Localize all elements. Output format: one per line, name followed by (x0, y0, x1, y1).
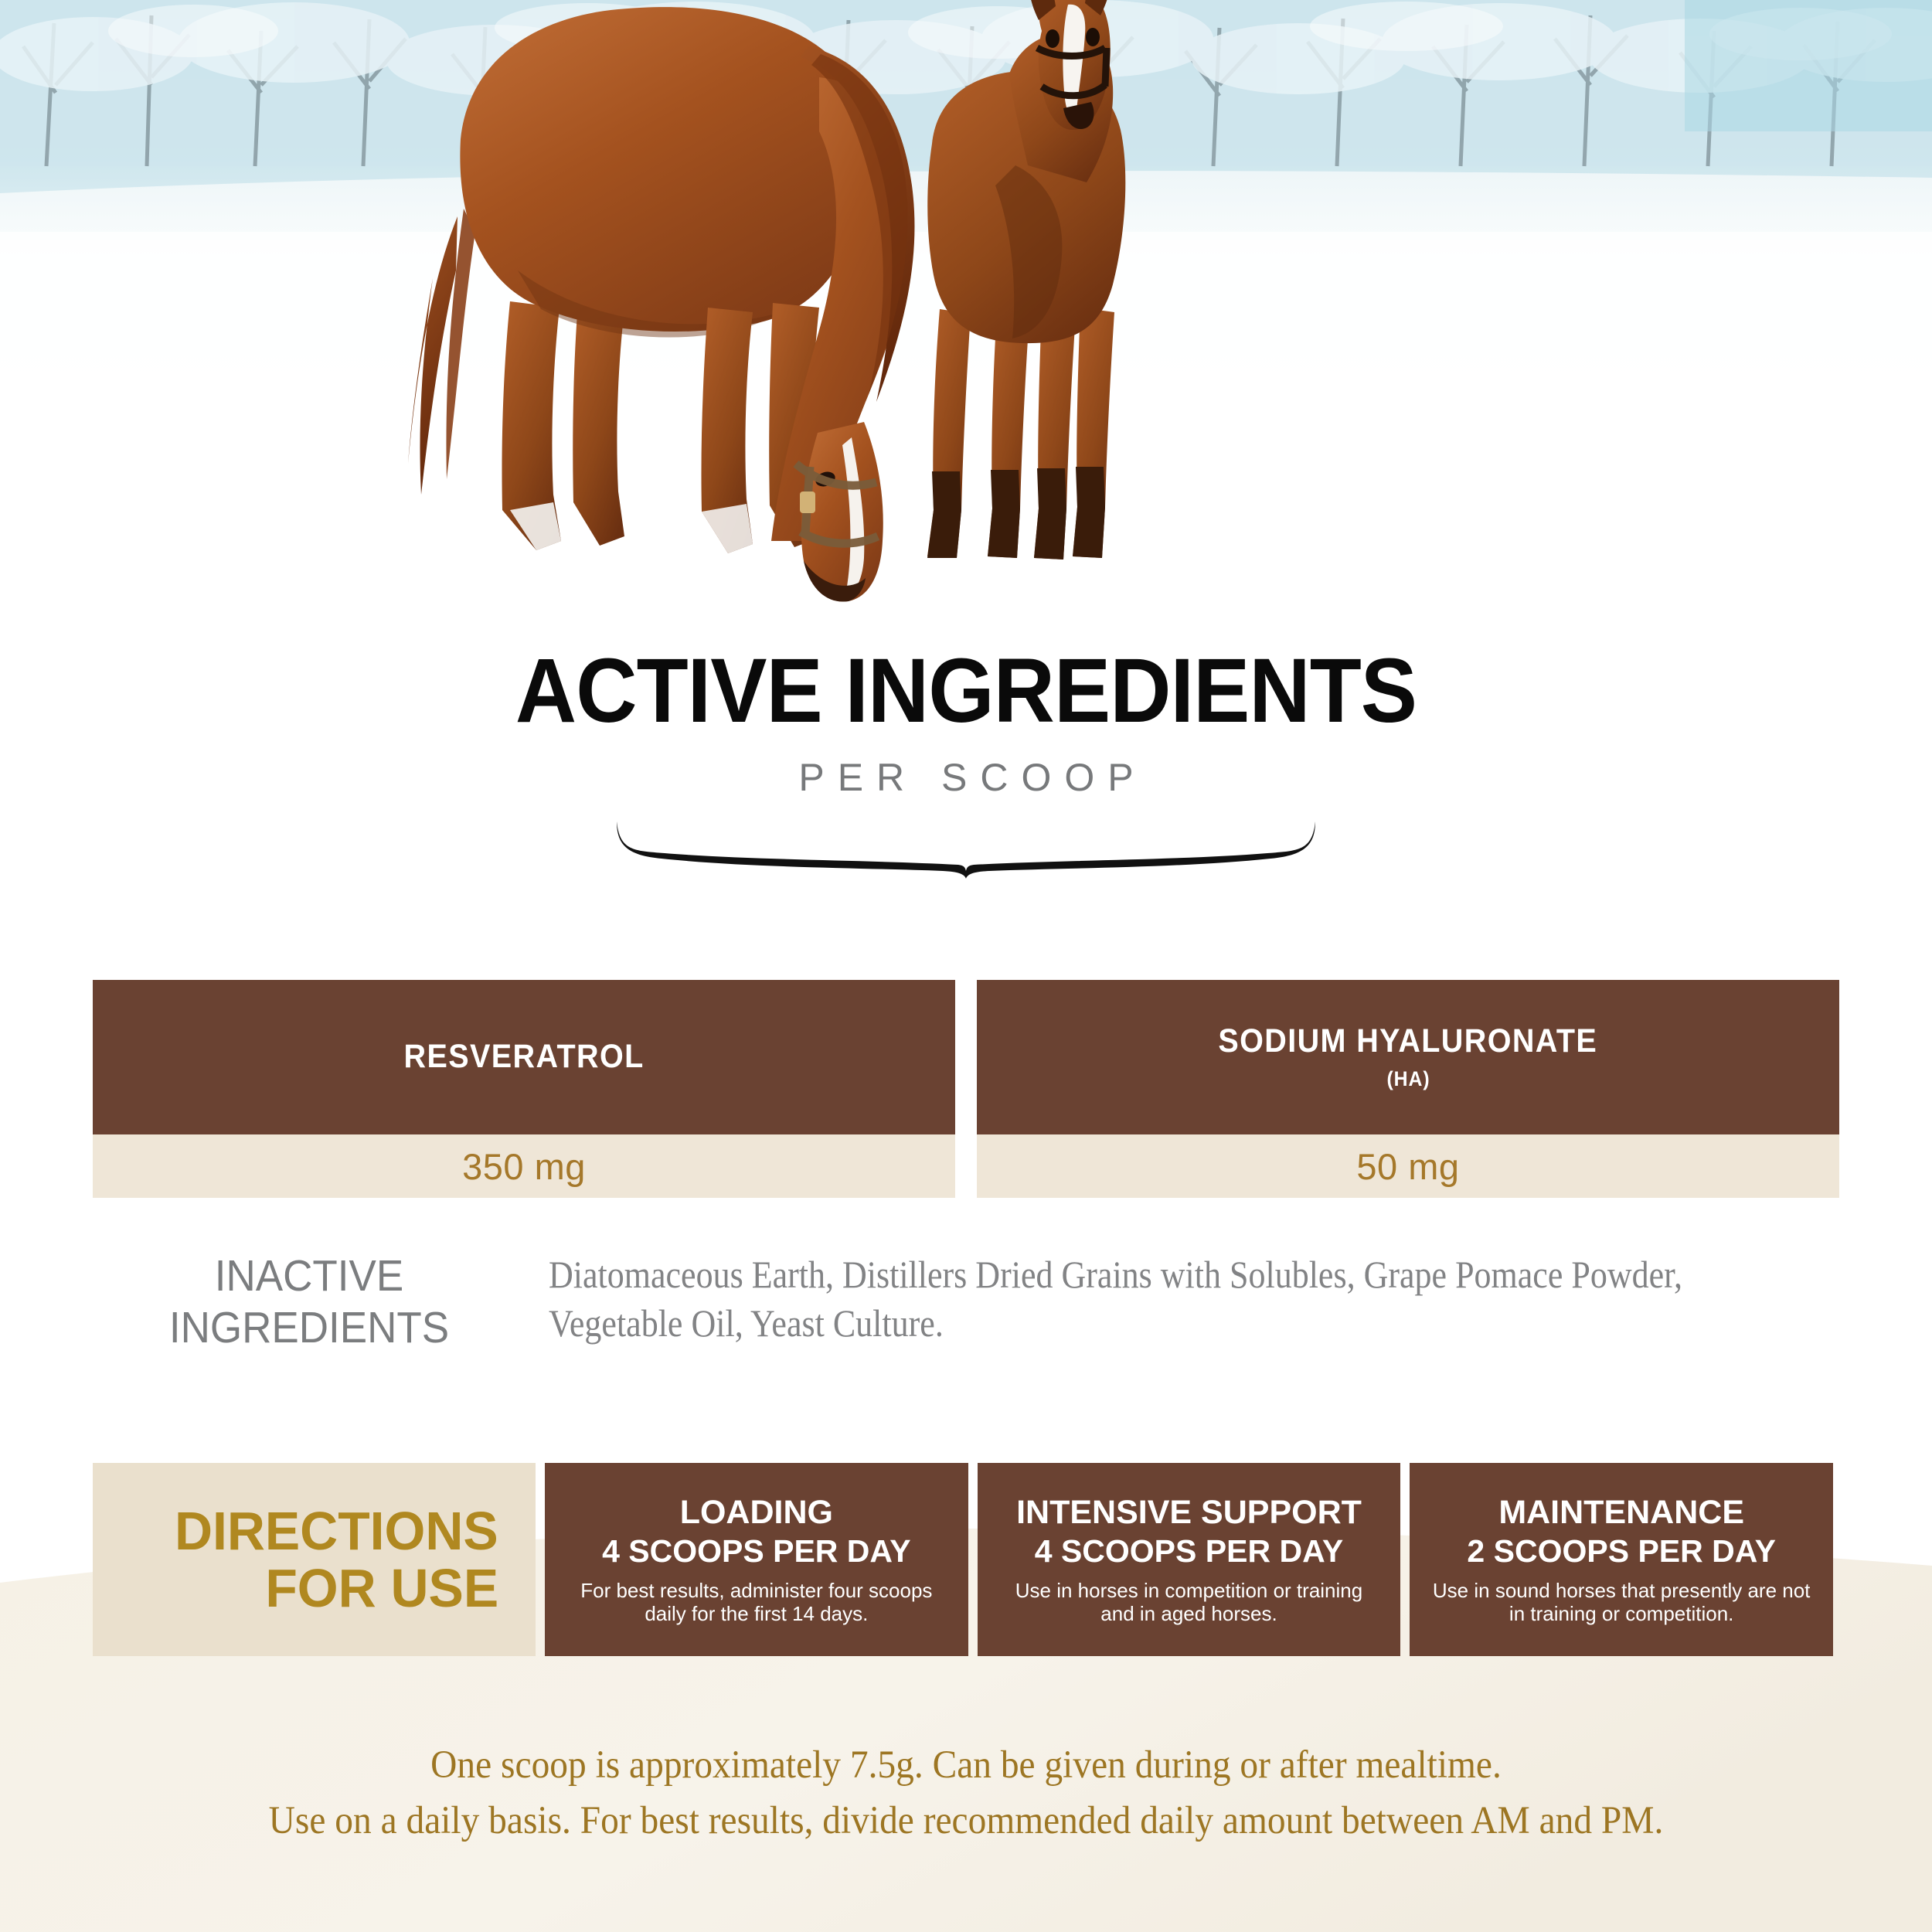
directions-title-line1: DIRECTIONS (175, 1502, 498, 1560)
directions-card-loading: LOADING 4 SCOOPS PER DAY For best result… (545, 1463, 968, 1656)
directions-title-panel: DIRECTIONS FOR USE (93, 1463, 536, 1656)
brace-flourish-icon (611, 817, 1321, 879)
ingredient-amount: 350 mg (93, 1134, 955, 1198)
card-description: Use in horses in competition or training… (996, 1579, 1383, 1625)
treeline (0, 0, 1932, 166)
inactive-label-line1: INACTIVE (108, 1250, 511, 1302)
card-dose: 2 SCOOPS PER DAY (1467, 1532, 1776, 1570)
brace-path (617, 821, 1315, 879)
card-title: INTENSIVE SUPPORT (1016, 1494, 1362, 1531)
brace-svg (611, 817, 1321, 879)
ingredient-name: SODIUM HYALURONATE (1219, 1023, 1598, 1060)
hero-scene (0, 0, 1932, 519)
footer-line-2: Use on a daily basis. For best results, … (68, 1793, 1865, 1849)
ingredient-card-sodium-hyaluronate: SODIUM HYALURONATE (HA) 50 mg (977, 980, 1839, 1198)
infographic-root: ACTIVE INGREDIENTS PER SCOOP RESVERATROL… (0, 0, 1932, 1932)
inactive-ingredients-section: INACTIVE INGREDIENTS Diatomaceous Earth,… (93, 1250, 1855, 1353)
inactive-ingredients-text: Diatomaceous Earth, Distillers Dried Gra… (549, 1250, 1698, 1348)
directions-title-line2: FOR USE (265, 1560, 498, 1617)
active-ingredients-row: RESVERATROL 350 mg SODIUM HYALURONATE (H… (93, 980, 1839, 1198)
hero-photo (0, 0, 1932, 519)
ingredient-header: SODIUM HYALURONATE (HA) (977, 980, 1839, 1134)
inactive-label-line2: INGREDIENTS (108, 1302, 511, 1354)
ingredient-abbreviation: (HA) (1386, 1067, 1430, 1091)
title-block: ACTIVE INGREDIENTS PER SCOOP (0, 645, 1932, 800)
page-title: ACTIVE INGREDIENTS (68, 645, 1865, 736)
footer-note: One scoop is approximately 7.5g. Can be … (0, 1737, 1932, 1849)
card-dose: 4 SCOOPS PER DAY (602, 1532, 911, 1570)
ingredient-amount: 50 mg (977, 1134, 1839, 1198)
card-dose: 4 SCOOPS PER DAY (1035, 1532, 1344, 1570)
ingredient-name: RESVERATROL (403, 1039, 644, 1075)
card-description: For best results, administer four scoops… (563, 1579, 950, 1625)
ingredient-card-resveratrol: RESVERATROL 350 mg (93, 980, 955, 1198)
directions-card-maintenance: MAINTENANCE 2 SCOOPS PER DAY Use in soun… (1410, 1463, 1833, 1656)
page-subtitle: PER SCOOP (0, 755, 1932, 800)
inactive-ingredients-label: INACTIVE INGREDIENTS (108, 1250, 511, 1353)
directions-row: DIRECTIONS FOR USE LOADING 4 SCOOPS PER … (93, 1463, 1833, 1656)
card-title: MAINTENANCE (1498, 1494, 1744, 1531)
card-description: Use in sound horses that presently are n… (1428, 1579, 1815, 1625)
mare-muzzle (804, 561, 866, 602)
ingredient-header: RESVERATROL (93, 980, 955, 1134)
directions-card-intensive-support: INTENSIVE SUPPORT 4 SCOOPS PER DAY Use i… (978, 1463, 1401, 1656)
footer-line-1: One scoop is approximately 7.5g. Can be … (68, 1737, 1865, 1793)
card-title: LOADING (680, 1494, 833, 1531)
